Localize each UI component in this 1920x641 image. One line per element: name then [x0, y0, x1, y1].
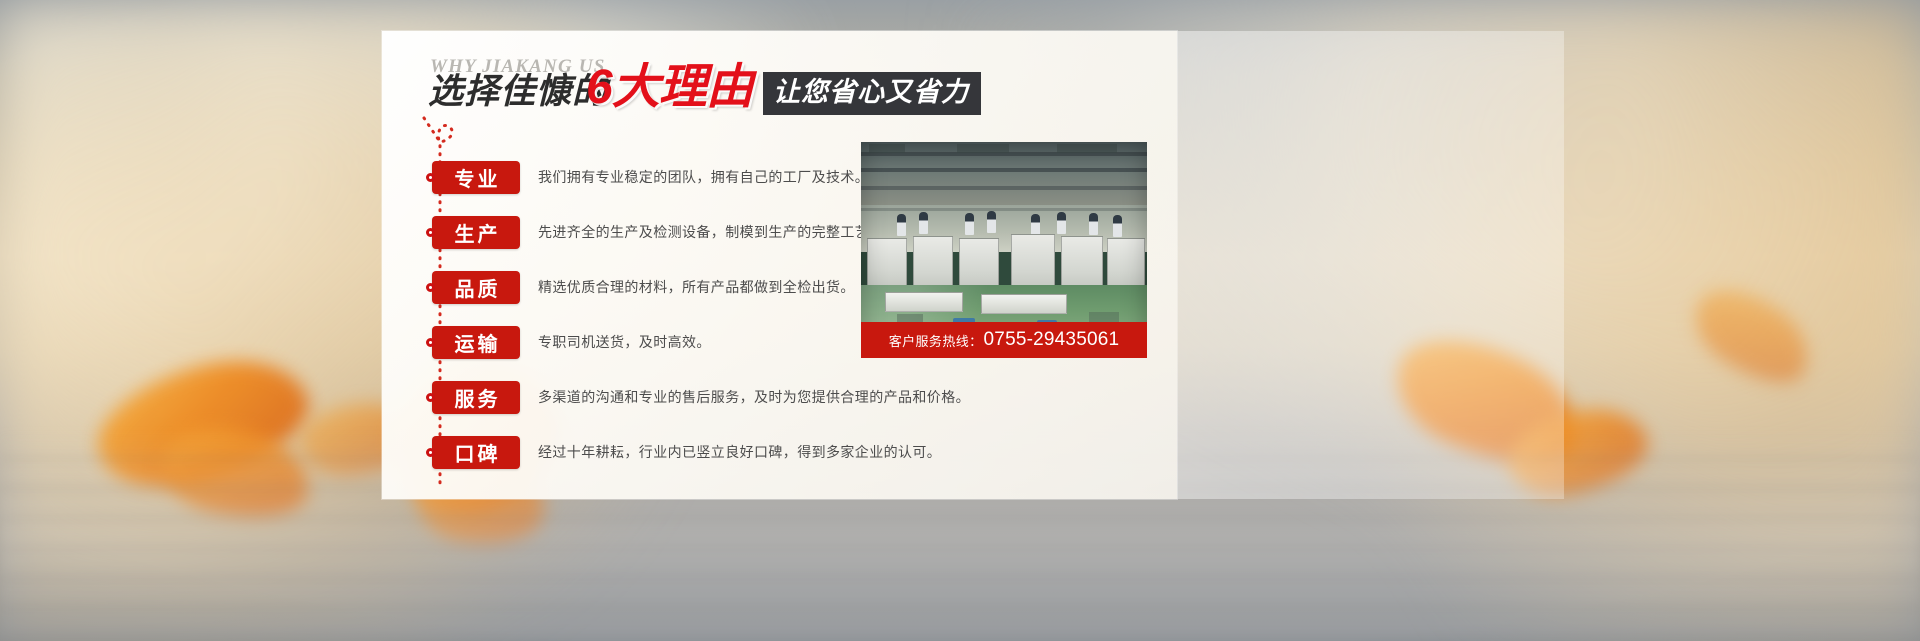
- banner-stage: WHY JIAKANG US 选择佳慷的 6大理由 让您省心又省力 专业 我们拥…: [0, 0, 1920, 641]
- feature-item[interactable]: 口碑 经过十年耕耘，行业内已竖立良好口碑，得到多家企业的认可。: [432, 435, 1152, 469]
- feature-tag: 专业: [432, 161, 520, 194]
- feature-tag: 品质: [432, 271, 520, 304]
- feature-tag: 运输: [432, 326, 520, 359]
- timeline-node-icon: [426, 228, 435, 237]
- timeline-node-icon: [426, 173, 435, 182]
- feature-tag: 生产: [432, 216, 520, 249]
- title-highlight: 6大理由: [586, 64, 753, 112]
- feature-tag: 服务: [432, 381, 520, 414]
- title-chinese: 选择佳慷的: [428, 74, 608, 109]
- timeline-node-icon: [426, 393, 435, 402]
- feature-description: 专职司机送货，及时高效。: [538, 332, 711, 352]
- feature-description: 先进齐全的生产及检测设备，制模到生产的完整工艺。: [538, 222, 884, 242]
- title-tagline-badge: 让您省心又省力: [763, 72, 981, 115]
- timeline-node-icon: [426, 338, 435, 347]
- feature-item[interactable]: 服务 多渠道的沟通和专业的售后服务，及时为您提供合理的产品和价格。: [432, 380, 1152, 414]
- hotline-bar[interactable]: 客户服务热线： 0755-29435061: [861, 322, 1147, 358]
- timeline-node-icon: [426, 448, 435, 457]
- hotline-label: 客户服务热线：: [889, 331, 983, 350]
- feature-description: 精选优质合理的材料，所有产品都做到全检出货。: [538, 277, 855, 297]
- timeline-node-icon: [426, 283, 435, 292]
- feature-tag: 口碑: [432, 436, 520, 469]
- hotline-number: 0755-29435061: [984, 329, 1120, 351]
- feature-description: 经过十年耕耘，行业内已竖立良好口碑，得到多家企业的认可。: [538, 442, 941, 462]
- feature-description: 我们拥有专业稳定的团队，拥有自己的工厂及技术。: [538, 167, 869, 187]
- feature-description: 多渠道的沟通和专业的售后服务，及时为您提供合理的产品和价格。: [538, 387, 970, 407]
